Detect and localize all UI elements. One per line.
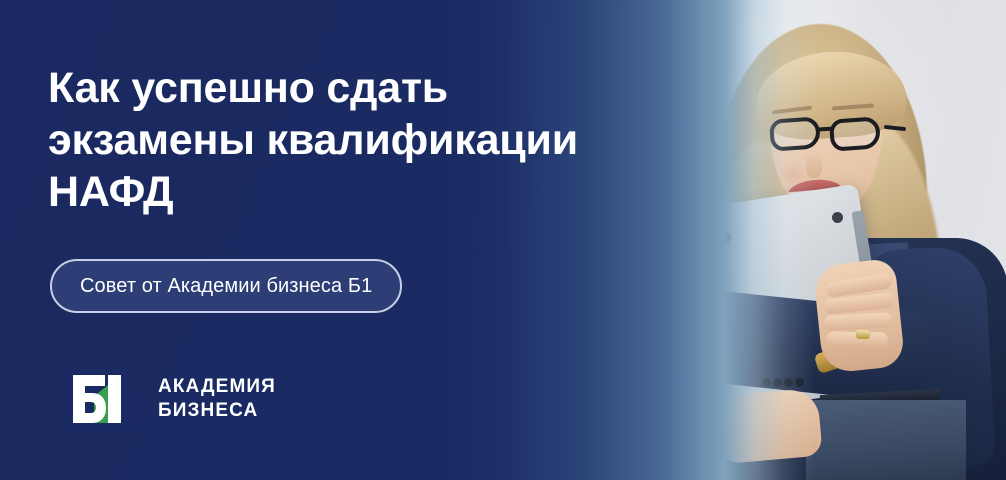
headline-line-1: Как успешно сдать [48,62,688,114]
promo-banner: Как успешно сдать экзамены квалификации … [0,0,1006,480]
brand-logo[interactable]: АКАДЕМИЯ БИЗНЕСА [64,366,276,432]
logo-line-2: БИЗНЕСА [158,399,276,423]
banner-content: Как успешно сдать экзамены квалификации … [0,0,1006,480]
headline-line-2: экзамены квалификации [48,114,688,166]
advice-badge-label: Совет от Академии бизнеса Б1 [80,275,372,298]
headline-line-3: НАФД [48,166,688,218]
page-title: Как успешно сдать экзамены квалификации … [48,62,688,218]
advice-badge[interactable]: Совет от Академии бизнеса Б1 [50,259,402,313]
brand-logo-wordmark: АКАДЕМИЯ БИЗНЕСА [158,375,276,423]
logo-line-1: АКАДЕМИЯ [158,375,276,399]
b1-logo-mark-icon [64,366,130,432]
